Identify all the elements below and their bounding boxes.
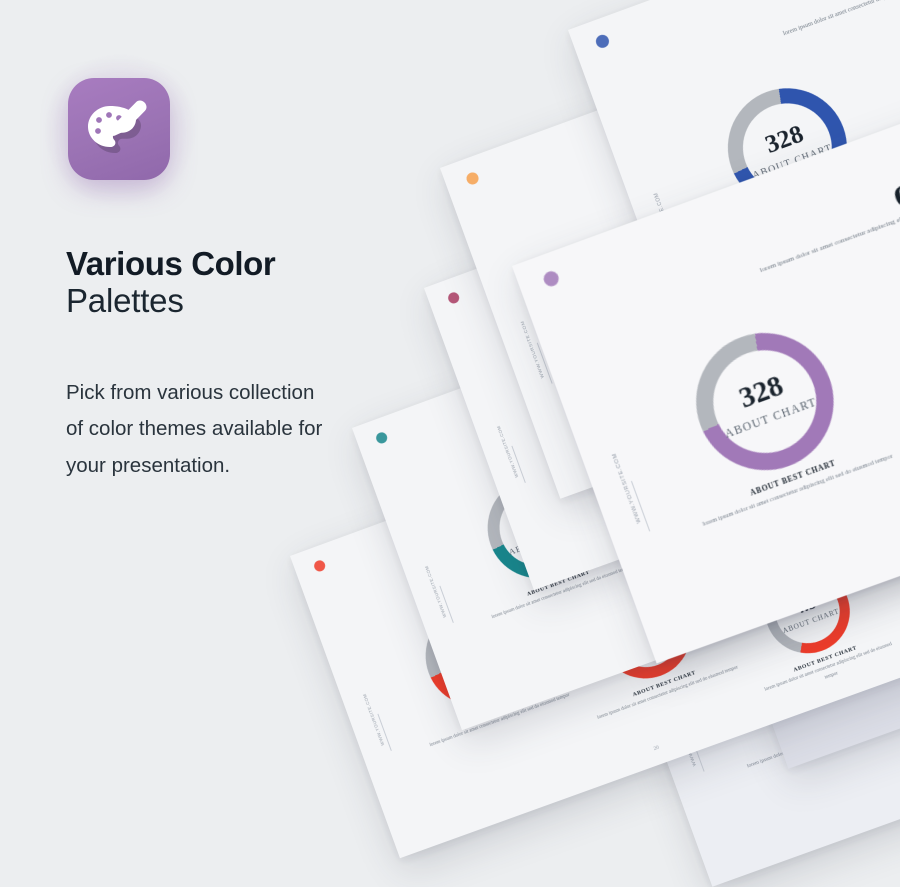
slide-logo-badge[interactable] (542, 269, 561, 288)
vertical-website-url: WWW.YOURSITE.COM (611, 452, 642, 524)
headline-line-1: Various Color (66, 246, 366, 283)
slide-logo-badge[interactable] (446, 291, 460, 305)
slide-intro-paragraph: lorem ipsum dolor sit amet consectetur a… (777, 0, 900, 52)
slide-page-number: 20 (653, 745, 660, 753)
donut-center: 328ABOUT CHART (699, 336, 831, 468)
page-title: Various Color Palettes (66, 246, 366, 320)
donut-value: 328 (736, 371, 788, 414)
vertical-website-url: WWW.YOURSITE.COM (424, 565, 448, 618)
promo-panel: Various Color Palettes Pick from various… (0, 0, 380, 768)
slide-title-prefix: OUR (888, 155, 900, 215)
slide-logo-badge[interactable] (594, 33, 611, 50)
slide-logo-badge[interactable] (465, 171, 481, 187)
vertical-website-url: WWW.YOURSITE.COM (496, 425, 520, 478)
paint-palette-icon[interactable] (68, 78, 170, 180)
promo-description: Pick from various collection of color th… (66, 375, 328, 484)
headline-line-2: Palettes (66, 283, 366, 320)
